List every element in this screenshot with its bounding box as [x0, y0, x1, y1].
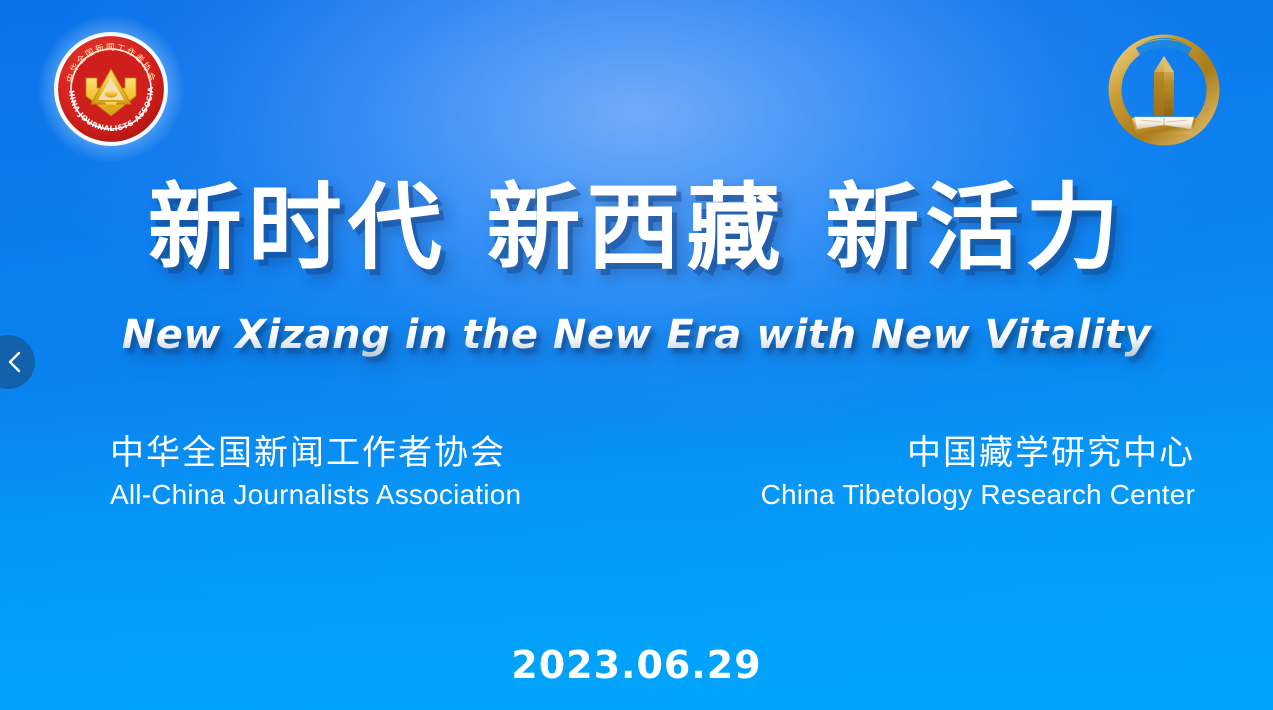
organization-name-chinese: 中华全国新闻工作者协会	[110, 432, 521, 475]
ctrc-emblem-graphic	[1106, 32, 1222, 148]
china-tibetology-research-center-emblem-icon	[1106, 32, 1222, 148]
organization-all-china-journalists-association: 中华全国新闻工作者协会 All-China Journalists Associ…	[110, 432, 521, 513]
organization-name-chinese: 中国藏学研究中心	[761, 432, 1195, 475]
slide-title-chinese: 新时代 新西藏 新活力	[0, 178, 1273, 280]
slide-subtitle-english: New Xizang in the New Era with New Vital…	[0, 312, 1273, 358]
presentation-slide: 中华全国新闻工作者协会 ALL-CHINA JOURNALISTS ASSOCI…	[0, 0, 1273, 710]
organization-name-english: China Tibetology Research Center	[761, 477, 1195, 513]
organizations-row: 中华全国新闻工作者协会 All-China Journalists Associ…	[0, 432, 1273, 524]
chevron-left-icon	[7, 350, 23, 374]
slide-date: 2023.06.29	[0, 643, 1273, 687]
all-china-journalists-association-seal-icon: 中华全国新闻工作者协会 ALL-CHINA JOURNALISTS ASSOCI…	[52, 30, 170, 148]
acja-seal-graphic: 中华全国新闻工作者协会 ALL-CHINA JOURNALISTS ASSOCI…	[52, 30, 170, 148]
organization-name-english: All-China Journalists Association	[110, 477, 521, 513]
organization-china-tibetology-research-center: 中国藏学研究中心 China Tibetology Research Cente…	[761, 432, 1195, 513]
